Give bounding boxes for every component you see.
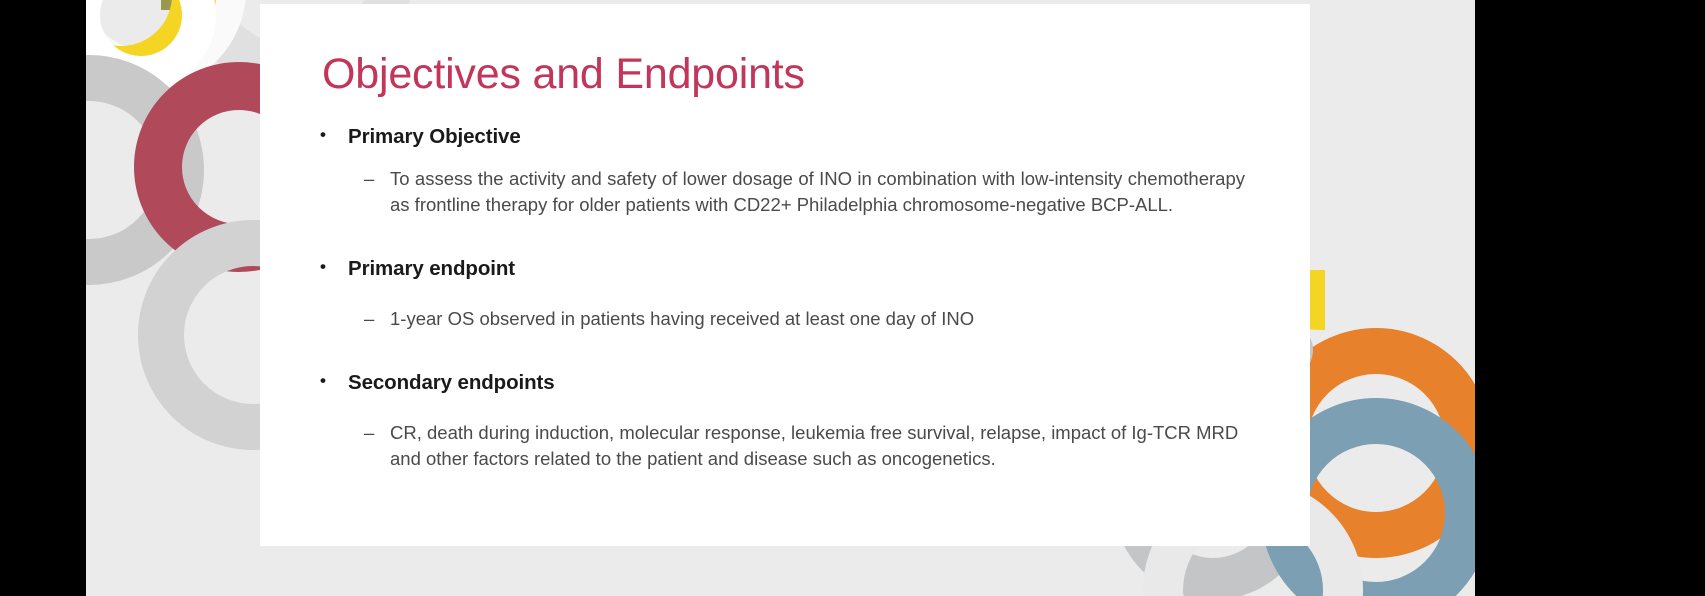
section-detail-row: – 1-year OS observed in patients having … [320, 306, 1260, 332]
section-heading-text: Primary Objective [348, 124, 521, 150]
slide-body: • Primary Objective – To assess the acti… [320, 124, 1260, 472]
spacer [320, 396, 1260, 420]
spacer [320, 150, 1260, 166]
letterbox-bar-left [0, 0, 86, 596]
dash-bullet-icon: – [364, 420, 390, 446]
bullet-dot-icon: • [320, 370, 348, 391]
section-detail-row: – CR, death during induction, molecular … [320, 420, 1260, 473]
section-primary-objective: • Primary Objective – To assess the acti… [320, 124, 1260, 218]
section-heading-row: • Secondary endpoints [320, 370, 1260, 396]
section-detail-row: – To assess the activity and safety of l… [320, 166, 1260, 219]
dash-bullet-icon: – [364, 166, 390, 192]
section-detail-text: 1-year OS observed in patients having re… [390, 306, 1245, 332]
slide-content-card: Objectives and Endpoints • Primary Objec… [260, 4, 1310, 546]
section-primary-endpoint: • Primary endpoint – 1-year OS observed … [320, 256, 1260, 332]
letterbox-bar-right [1475, 0, 1705, 596]
section-secondary-endpoints: • Secondary endpoints – CR, death during… [320, 370, 1260, 472]
video-player-frame: Objectives and Endpoints • Primary Objec… [0, 0, 1705, 596]
section-heading-text: Secondary endpoints [348, 370, 555, 396]
dash-bullet-icon: – [364, 306, 390, 332]
decorative-rings-left [86, 0, 276, 430]
section-heading-row: • Primary endpoint [320, 256, 1260, 282]
presentation-slide: Objectives and Endpoints • Primary Objec… [86, 0, 1475, 596]
bullet-dot-icon: • [320, 256, 348, 277]
section-heading-text: Primary endpoint [348, 256, 515, 282]
section-detail-text: CR, death during induction, molecular re… [390, 420, 1245, 473]
spacer [320, 282, 1260, 306]
bullet-dot-icon: • [320, 124, 348, 145]
section-detail-text: To assess the activity and safety of low… [390, 166, 1245, 219]
spacer [320, 332, 1260, 370]
spacer [320, 218, 1260, 256]
page-title: Objectives and Endpoints [322, 50, 805, 99]
section-heading-row: • Primary Objective [320, 124, 1260, 150]
